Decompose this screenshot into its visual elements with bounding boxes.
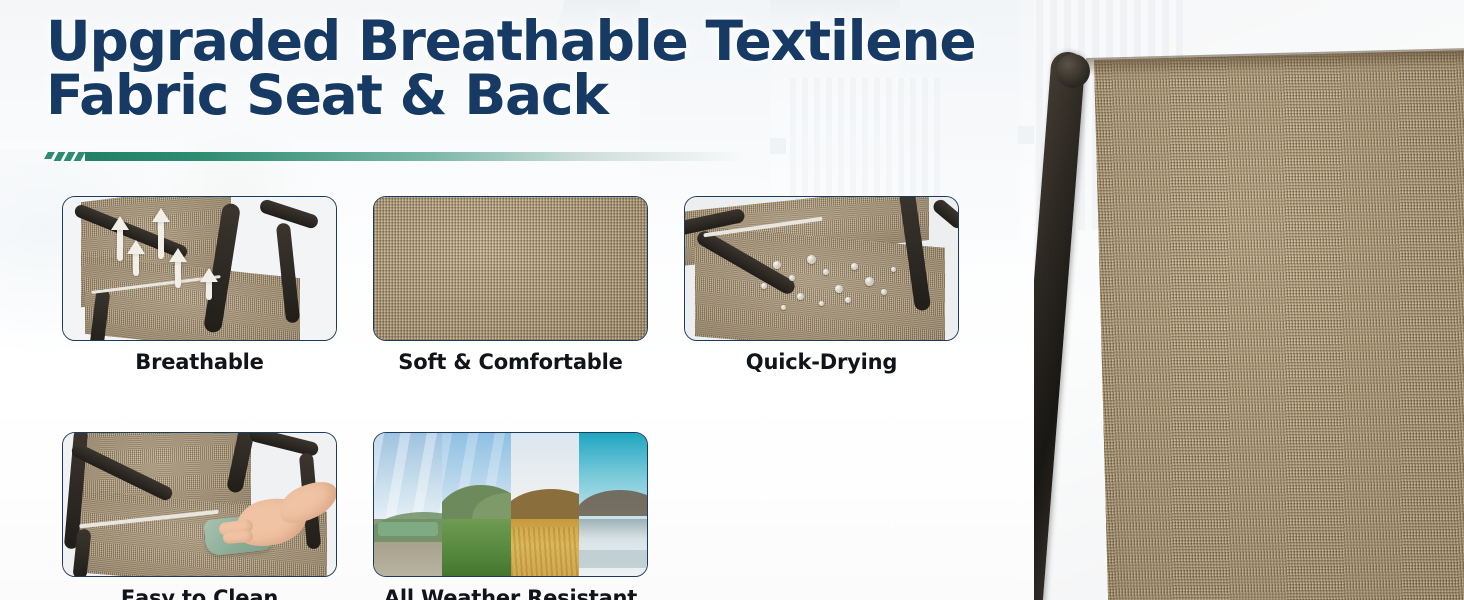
- water-droplet: [891, 267, 896, 272]
- hand-finger: [223, 530, 254, 544]
- hero-chair-frame-cap: [1056, 54, 1090, 88]
- feature-card-easy-to-clean[interactable]: [62, 432, 337, 577]
- water-droplet: [761, 283, 767, 289]
- headline: Upgraded Breathable Textilene Fabric Sea…: [46, 14, 1046, 123]
- water-droplet: [819, 301, 824, 306]
- chair-seat-fabric: [85, 256, 300, 340]
- feature-cell-breathable: Breathable: [62, 196, 337, 374]
- quick-drying-illustration: [685, 197, 958, 340]
- water-droplet: [807, 255, 816, 264]
- water-droplet: [851, 263, 858, 270]
- season-winter: [579, 433, 647, 576]
- headline-line-2: Fabric Seat & Back: [46, 68, 1046, 122]
- feature-row-bottom: Easy to Clean: [62, 432, 959, 600]
- water-droplet: [835, 285, 843, 293]
- four-seasons-illustration: [374, 433, 647, 576]
- feature-cell-all-weather: All Weather Resistant: [373, 432, 648, 600]
- background-square-1: [770, 138, 786, 154]
- feature-cell-empty: [684, 432, 959, 600]
- underline-gradient-bar: [85, 152, 746, 161]
- season-spring: [374, 433, 442, 576]
- headline-underline: [46, 148, 746, 164]
- feature-label-breathable: Breathable: [62, 350, 337, 374]
- water-droplet: [797, 293, 804, 300]
- water-droplet: [881, 289, 887, 295]
- promo-banner: Upgraded Breathable Textilene Fabric Sea…: [0, 0, 1464, 600]
- chair-armrest-right: [931, 197, 958, 231]
- water-droplet: [823, 269, 829, 275]
- water-droplet: [845, 297, 851, 303]
- feature-card-grid: Breathable Soft & Comfortable: [62, 196, 959, 600]
- fabric-swatch-illustration: [374, 197, 647, 340]
- feature-card-all-weather[interactable]: [373, 432, 648, 577]
- breathable-illustration: [63, 197, 336, 340]
- water-droplet: [789, 275, 795, 281]
- feature-cell-easy-to-clean: Easy to Clean: [62, 432, 337, 600]
- underline-ticks-icon: [46, 152, 83, 161]
- feature-card-quick-drying[interactable]: [684, 196, 959, 341]
- easy-to-clean-illustration: [63, 433, 336, 576]
- feature-card-soft-comfortable[interactable]: [373, 196, 648, 341]
- hero-chair-image: [1034, 0, 1464, 600]
- hero-textilene-fabric: [1094, 49, 1464, 600]
- feature-card-breathable[interactable]: [62, 196, 337, 341]
- season-autumn: [511, 433, 579, 576]
- season-summer: [442, 433, 510, 576]
- feature-cell-soft-comfortable: Soft & Comfortable: [373, 196, 648, 374]
- feature-label-all-weather: All Weather Resistant: [373, 586, 648, 600]
- feature-row-top: Breathable Soft & Comfortable: [62, 196, 959, 374]
- feature-cell-quick-drying: Quick-Drying: [684, 196, 959, 374]
- feature-label-soft-comfortable: Soft & Comfortable: [373, 350, 648, 374]
- water-droplet: [865, 277, 874, 286]
- water-droplet: [773, 261, 781, 269]
- feature-label-quick-drying: Quick-Drying: [684, 350, 959, 374]
- feature-label-easy-to-clean: Easy to Clean: [62, 586, 337, 600]
- water-droplet: [781, 305, 786, 310]
